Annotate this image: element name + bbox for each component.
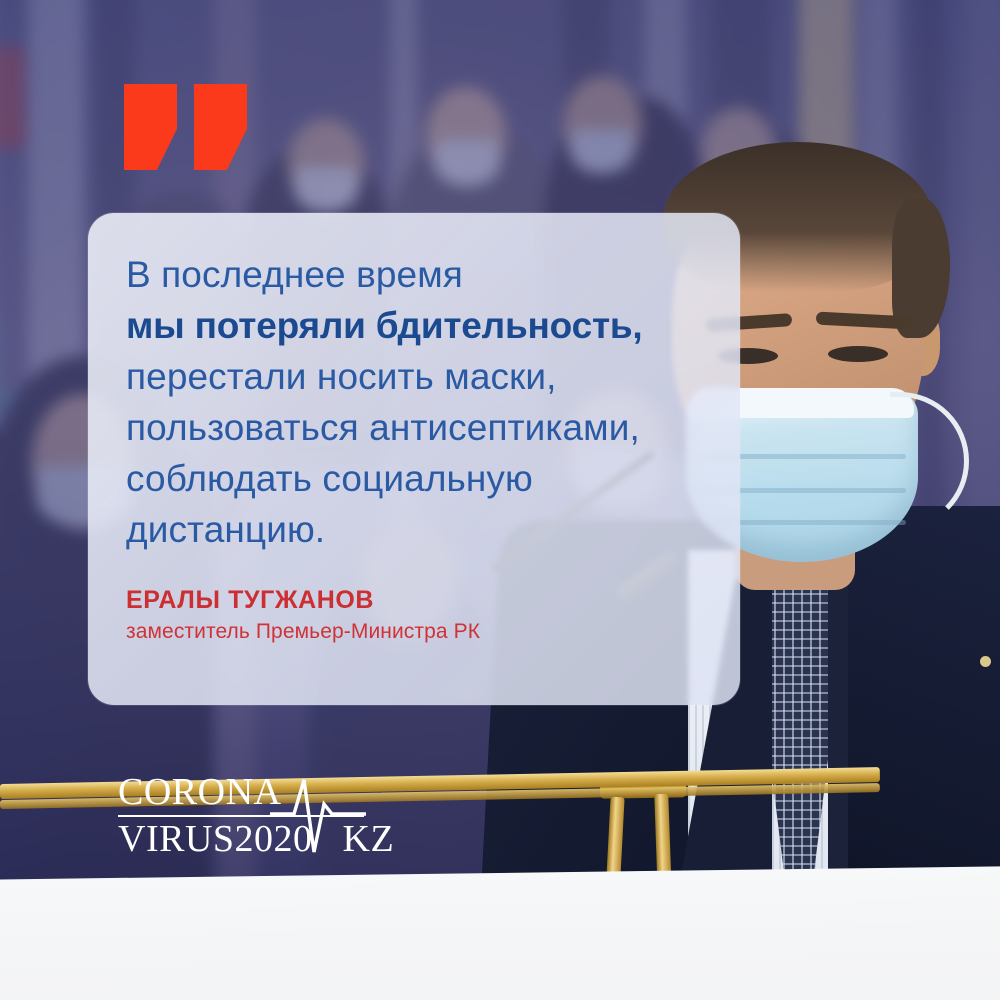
quote-line: пользоваться антисептиками, (126, 402, 740, 453)
logo-line-2: VIRUS2020 KZ (118, 819, 364, 859)
quote-mark-glyph-right (194, 84, 247, 170)
attribution-name: ЕРАЛЫ ТУГЖАНОВ (126, 586, 740, 615)
attribution-role: заместитель Премьер-Министра РК (126, 620, 740, 644)
logo-line-1: CORONA (118, 772, 364, 812)
logo-line-2-kz: KZ (343, 819, 395, 859)
quote-line: В последнее время (126, 249, 740, 300)
quote-line: соблюдать социальную (126, 453, 740, 504)
quote-mark-glyph-left (124, 84, 177, 170)
speaker-eye-right (828, 346, 888, 362)
quote-poster: В последнее время мы потеряли бдительнос… (0, 0, 1000, 1000)
quote-mark-icon (124, 84, 247, 170)
podium-desk-surface (0, 866, 1000, 1000)
quote-card-content: В последнее время мы потеряли бдительнос… (88, 213, 740, 644)
attribution-block: ЕРАЛЫ ТУГЖАНОВ заместитель Премьер-Минис… (126, 586, 740, 644)
speaker-jacket-right (848, 506, 1000, 926)
quote-card: В последнее время мы потеряли бдительнос… (88, 213, 740, 705)
quote-line-emphasis: мы потеряли бдительность, (126, 300, 740, 351)
coronavirus2020kz-logo[interactable]: CORONA VIRUS2020 KZ (118, 772, 364, 859)
quote-line: перестали носить маски, (126, 351, 740, 402)
logo-divider-rule (118, 815, 364, 817)
speaker-lapel-pin (980, 656, 991, 667)
logo-line-2-virus2020: VIRUS2020 (118, 819, 313, 859)
quote-line: дистанцию. (126, 504, 740, 555)
